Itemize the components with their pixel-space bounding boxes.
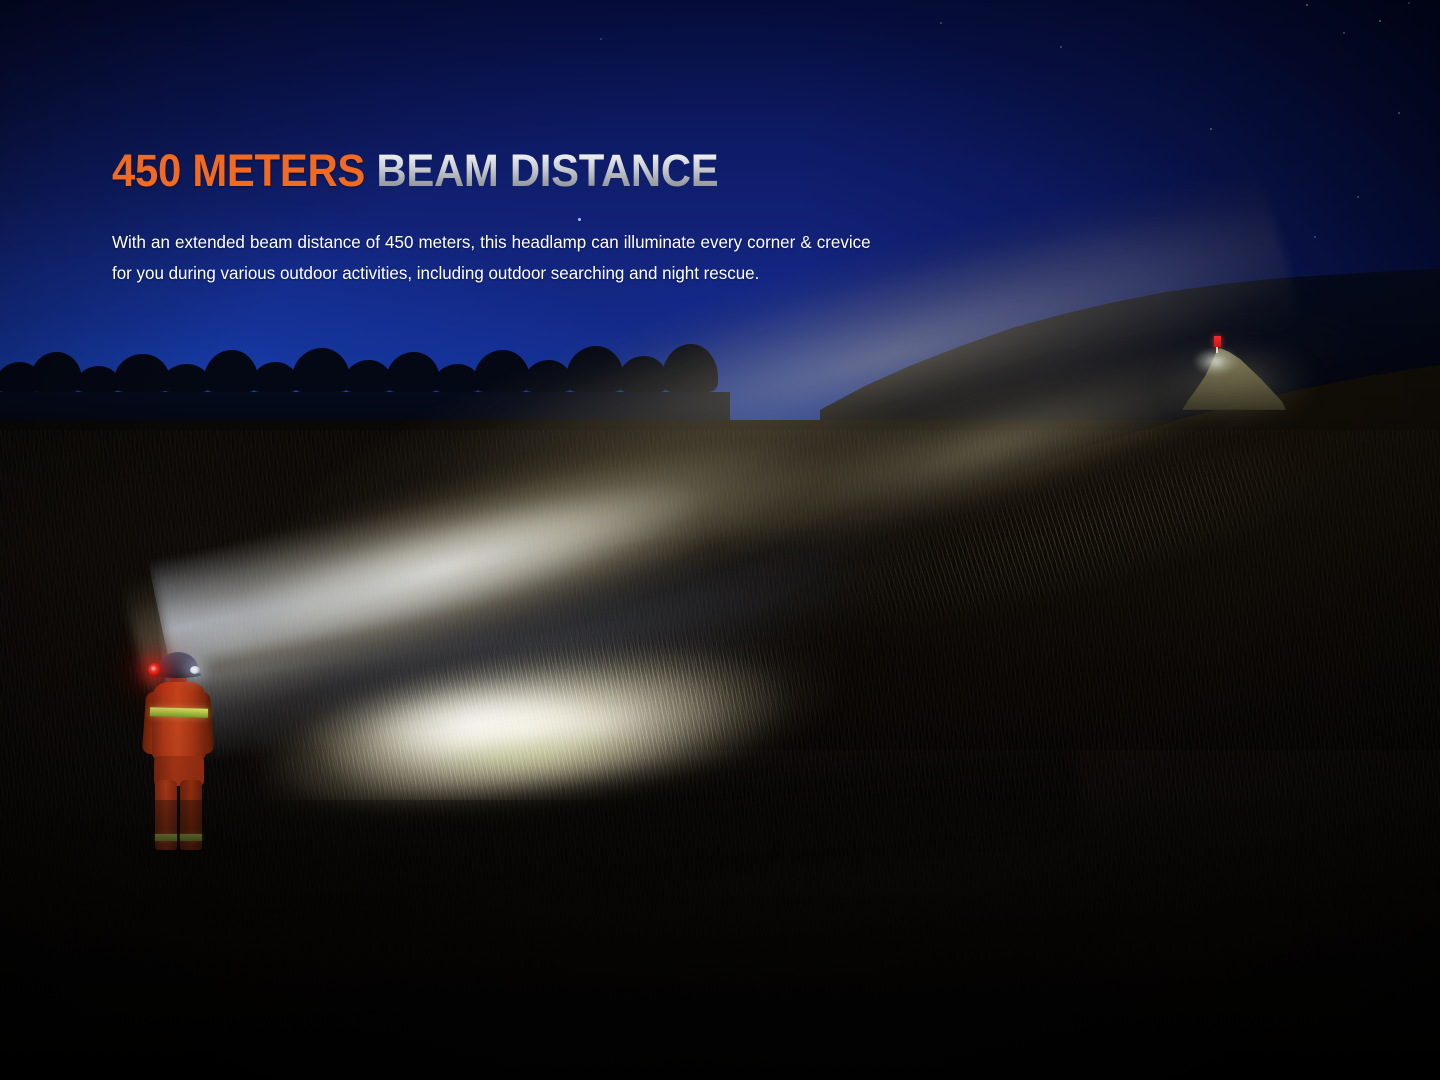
reflective-stripe-chest (150, 707, 208, 718)
headlamp-icon (190, 666, 200, 674)
page-title: 450 METERS BEAM DISTANCE (112, 148, 856, 193)
headline-rest: BEAM DISTANCE (365, 145, 718, 196)
rock-lit-face (1190, 344, 1246, 382)
star (1379, 20, 1381, 22)
star (1398, 112, 1400, 114)
star (1306, 4, 1308, 6)
star (1357, 196, 1359, 198)
red-flag-marker (1214, 336, 1221, 347)
star (1343, 32, 1345, 34)
star (1060, 46, 1062, 48)
beam-distance-promo-scene: 450 METERS BEAM DISTANCE With an extende… (0, 0, 1440, 1080)
foreground-grass (0, 800, 1440, 1080)
torso (152, 682, 206, 760)
light-dot-artifact (578, 218, 581, 221)
headline-highlight: 450 METERS (112, 145, 365, 196)
body-paragraph: With an extended beam distance of 450 me… (112, 227, 871, 289)
star (940, 22, 942, 24)
star (600, 38, 602, 40)
rear-red-lamp-icon (148, 663, 161, 676)
text-block: 450 METERS BEAM DISTANCE With an extende… (112, 148, 912, 289)
star (1408, 2, 1410, 4)
